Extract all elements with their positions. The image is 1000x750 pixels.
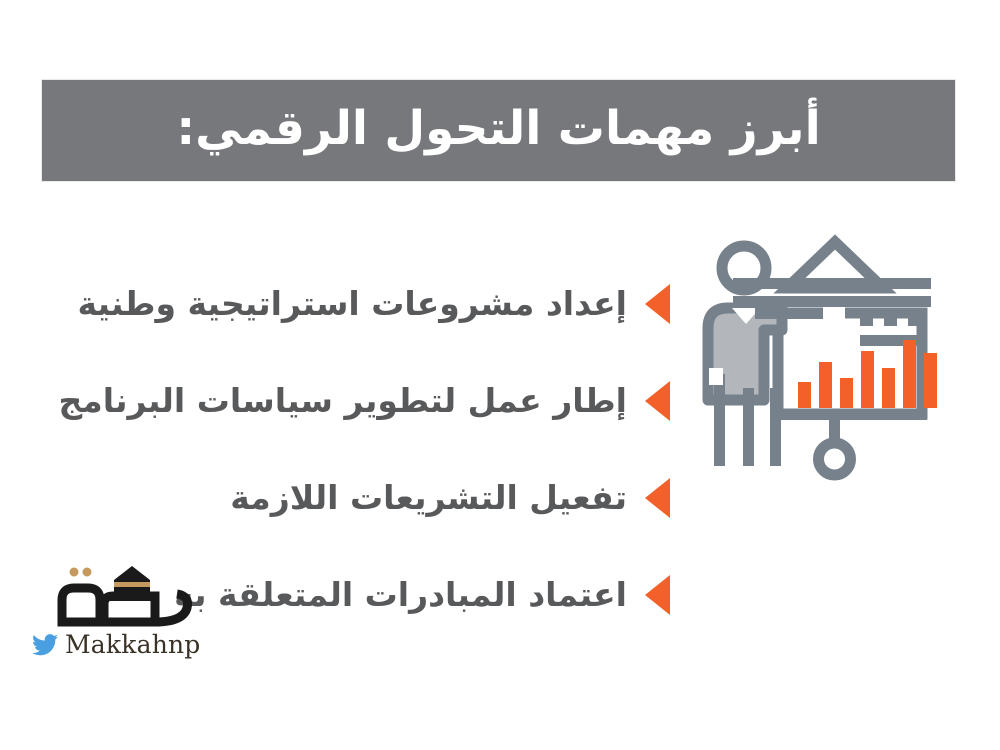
twitter-icon[interactable]: [32, 634, 58, 656]
presenter-chart-illustration: [700, 228, 965, 493]
triangle-bullet-icon: [645, 381, 670, 421]
board-text-dash: [908, 314, 921, 326]
board-rail-bottom: [773, 409, 927, 420]
chart-bar: [903, 340, 916, 408]
twitter-handle-row[interactable]: Makkahnp: [22, 632, 212, 657]
brand-logo-block: Makkahnp: [22, 560, 212, 670]
person-leg-left: [714, 374, 725, 466]
list-item: إعداد مشروعات استراتيجية وطنية: [60, 256, 670, 351]
list-item-label: إطار عمل لتطوير سياسات البرنامج: [59, 382, 628, 420]
logo-dot: [70, 568, 79, 577]
makkah-logo-icon: [52, 560, 212, 628]
chart-bar: [840, 378, 853, 408]
triangle-bullet-icon: [645, 478, 670, 518]
logo-kaaba-base: [110, 594, 154, 601]
chart-bar: [882, 368, 895, 408]
chart-bar: [798, 382, 811, 408]
logo-letter-ha: [155, 594, 188, 622]
infographic-page: أبرز مهمات التحول الرقمي: إعداد مشروعات …: [0, 0, 1000, 750]
logo-dot: [83, 568, 92, 577]
chart-bar: [819, 362, 832, 408]
person-leg-back: [770, 388, 781, 466]
logo-letter-meem: [62, 588, 100, 622]
bullet-list: إعداد مشروعات استراتيجية وطنية إطار عمل …: [60, 216, 670, 596]
triangle-bullet-icon: [645, 284, 670, 324]
board-text-dash: [884, 314, 897, 326]
person-torso-notch: [709, 368, 723, 385]
person-leg-right: [743, 388, 754, 466]
chart-bar: [924, 353, 937, 408]
chart-bar: [861, 351, 874, 408]
triangle-bullet-icon: [645, 575, 670, 615]
list-item-label: إعداد مشروعات استراتيجية وطنية: [77, 285, 627, 323]
board-text-dash: [860, 314, 873, 326]
page-title: أبرز مهمات التحول الرقمي:: [176, 105, 820, 152]
list-item-label: تفعيل التشريعات اللازمة: [230, 479, 627, 517]
list-item-label: اعتماد المبادرات المتعلقة به: [174, 576, 627, 614]
list-item: تفعيل التشريعات اللازمة: [60, 450, 670, 545]
board-stand-wheel: [819, 443, 851, 475]
person-hand-highlight: [823, 307, 845, 319]
logo-kaaba: [114, 566, 150, 594]
twitter-handle-label: Makkahnp: [65, 632, 201, 657]
presenter-chart-icon: [700, 228, 965, 493]
list-item: إطار عمل لتطوير سياسات البرنامج: [60, 353, 670, 448]
logo-kaaba-band: [114, 582, 150, 587]
title-banner: أبرز مهمات التحول الرقمي:: [42, 80, 955, 181]
